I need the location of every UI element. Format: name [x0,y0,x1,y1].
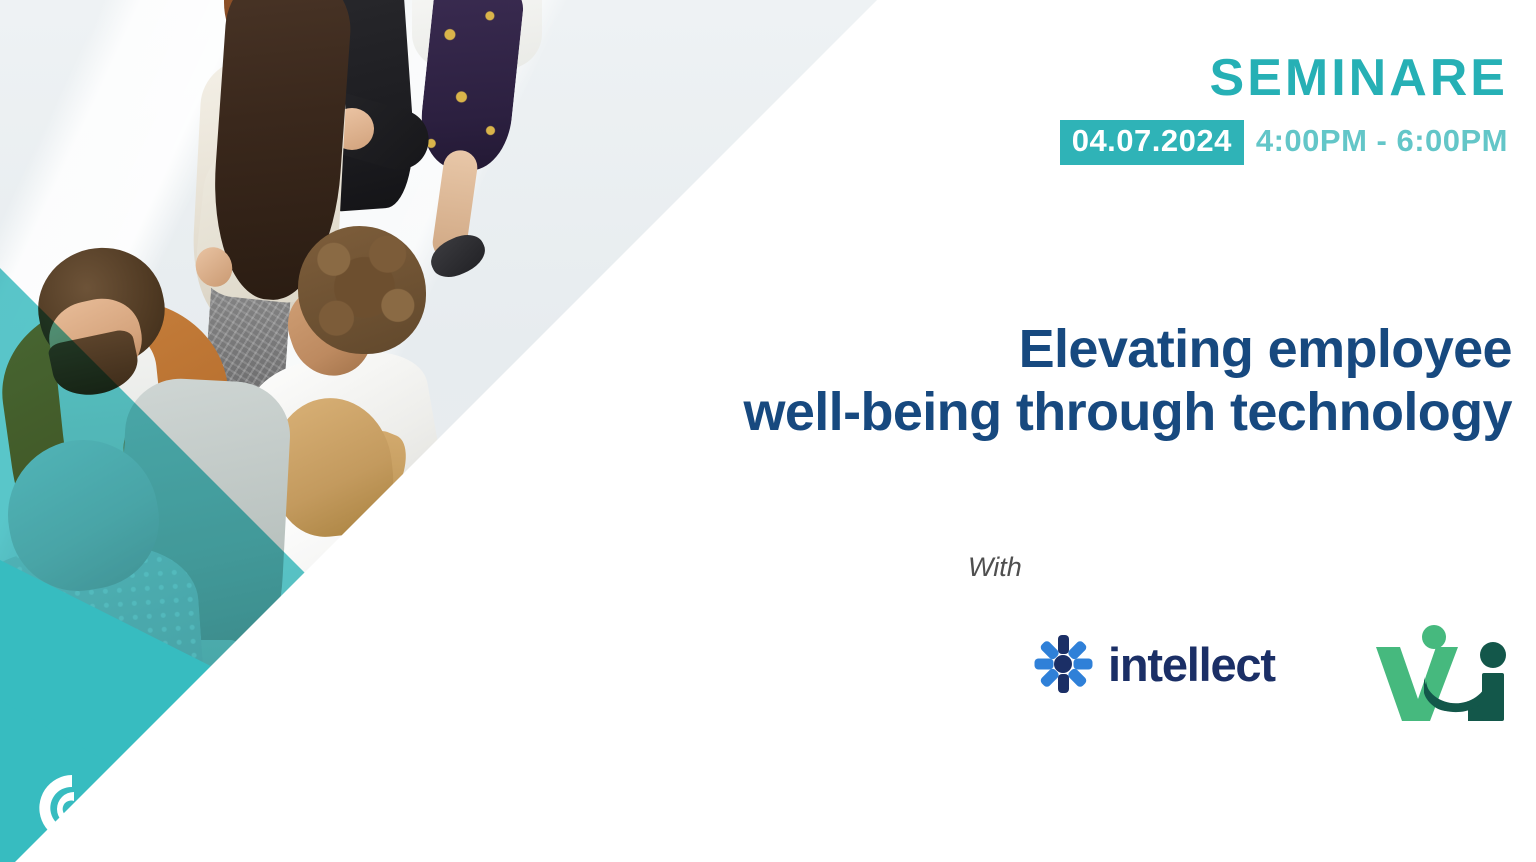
cci-wordmark: CCI FRANCE VIETNAM [124,779,293,837]
event-kicker: SEMINARE [1210,52,1508,104]
cci-line-2: VIETNAM [124,808,293,837]
event-time: 4:00PM - 6:00PM [1244,120,1508,165]
intellect-logo: intellect [1032,633,1275,695]
cci-line-1: CCI FRANCE [124,779,293,808]
page-title-line-1: Elevating employee [612,318,1512,381]
cci-circle-icon [36,772,108,844]
event-datetime: 04.07.2024 4:00PM - 6:00PM [1060,120,1508,165]
person-curly-hair [298,226,426,354]
vui-logo [1372,625,1512,725]
page-title: Elevating employee well-being through te… [612,318,1512,443]
event-date-badge: 04.07.2024 [1060,120,1244,165]
cci-france-vietnam-logo: CCI FRANCE VIETNAM [36,772,293,844]
intellect-wordmark: intellect [1108,641,1275,688]
vui-logo-icon [1372,625,1512,725]
event-banner: SEMINARE 04.07.2024 4:00PM - 6:00PM Elev… [0,0,1536,862]
starburst-icon [1032,633,1094,695]
page-title-line-2: well-being through technology [612,381,1512,444]
with-label: With [968,552,1022,583]
partner-logos: intellect [1020,625,1520,735]
starburst-center-dot [1054,655,1072,673]
